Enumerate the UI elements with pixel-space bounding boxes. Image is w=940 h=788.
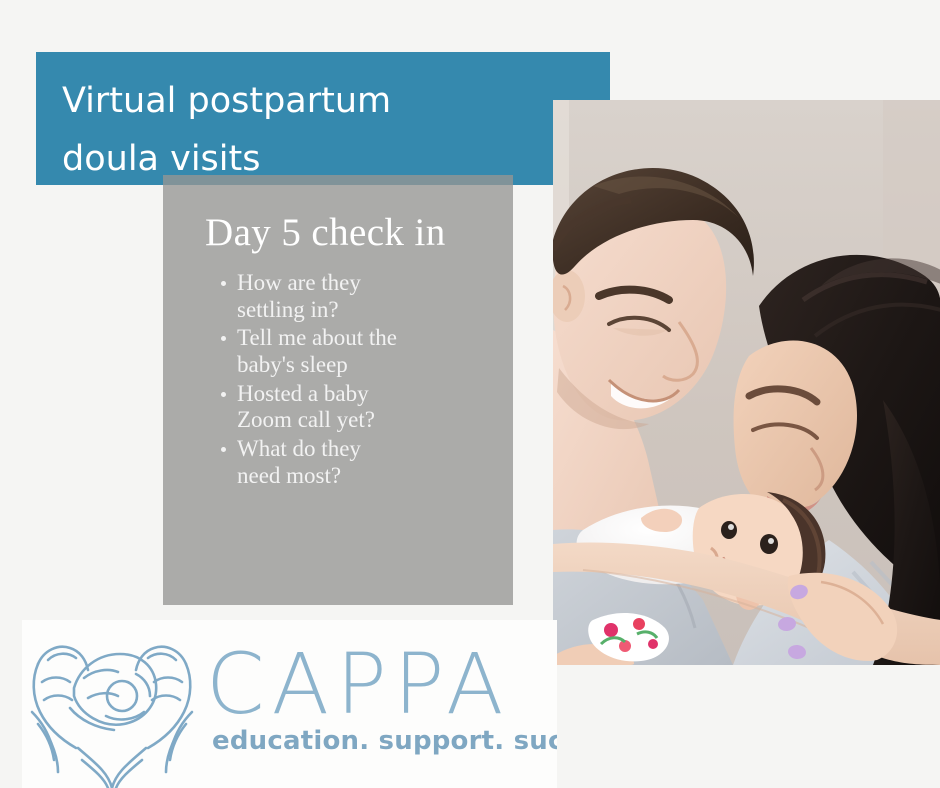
list-item: What do they need most? [221,436,402,489]
panel-heading: Day 5 check in [205,213,493,254]
checkin-question-list: How are they settling in? Tell me about … [183,270,493,489]
content-panel: Day 5 check in How are they settling in?… [163,175,513,605]
family-photo [553,100,940,665]
cappa-wordmark-block: CAPPA education. support. success. [202,646,557,761]
slide-canvas: Virtual postpartum doula visits Day 5 ch… [0,0,940,788]
slide-title: Virtual postpartum doula visits [62,72,584,188]
cappa-logo: CAPPA education. support. success. [22,620,557,788]
cappa-wordmark: CAPPA [206,646,557,723]
cappa-tagline: education. support. success. [212,726,557,756]
list-item: How are they settling in? [221,270,402,323]
cradling-hands-baby-icon [22,620,202,788]
list-item: Tell me about the baby's sleep [221,325,402,378]
list-item: Hosted a baby Zoom call yet? [221,381,402,434]
title-banner: Virtual postpartum doula visits [36,52,610,185]
